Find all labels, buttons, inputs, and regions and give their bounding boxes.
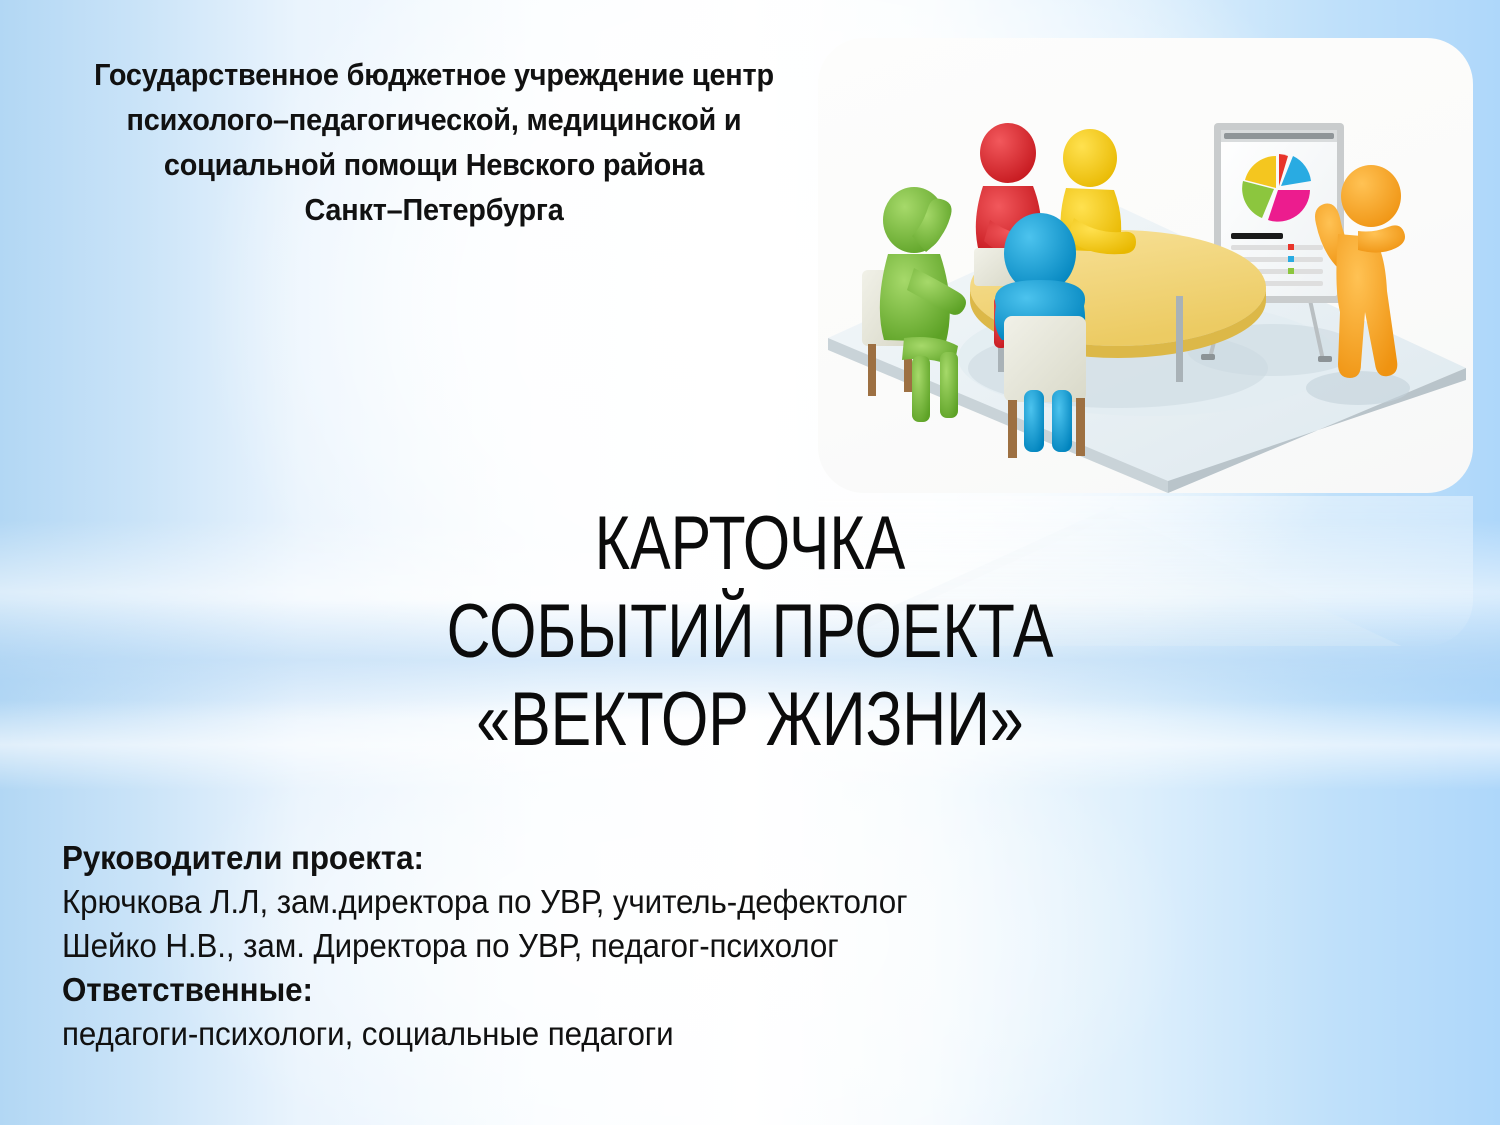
page-title: КАРТОЧКА СОБЫТИЙ ПРОЕКТА «ВЕКТОР ЖИЗНИ» bbox=[250, 500, 1250, 764]
presenter-shadow bbox=[1306, 371, 1410, 405]
credits-block: Руководители проекта: Крючкова Л.Л, зам.… bbox=[62, 836, 1242, 1056]
responsible-label: Ответственные: bbox=[62, 968, 1183, 1012]
meeting-illustration-svg bbox=[818, 38, 1473, 493]
organization-title-line-4: Санкт–Петербурга bbox=[81, 187, 788, 232]
page-title-line-1: КАРТОЧКА bbox=[350, 500, 1150, 588]
meeting-illustration bbox=[818, 38, 1473, 493]
leader-item: Шейко Н.В., зам. Директора по УВР, педаг… bbox=[62, 924, 1183, 968]
page-title-line-3: «ВЕКТОР ЖИЗНИ» bbox=[350, 676, 1150, 764]
page-title-line-2: СОБЫТИЙ ПРОЕКТА bbox=[350, 588, 1150, 676]
blue-chair-back bbox=[1004, 316, 1086, 402]
organization-title-line-3: социальной помощи Невского района bbox=[81, 142, 788, 187]
leader-item: Крючкова Л.Л, зам.директора по УВР, учит… bbox=[62, 880, 1183, 924]
responsible-item: педагоги-психологи, социальные педагоги bbox=[62, 1012, 1183, 1056]
presentation-slide: Государственное бюджетное учреждение цен… bbox=[0, 0, 1500, 1125]
organization-title: Государственное бюджетное учреждение цен… bbox=[81, 52, 788, 232]
organization-title-line-2: психолого–педагогической, медицинской и bbox=[81, 97, 788, 142]
organization-title-line-1: Государственное бюджетное учреждение цен… bbox=[81, 52, 788, 97]
leaders-label: Руководители проекта: bbox=[62, 836, 1183, 880]
green-figure bbox=[862, 187, 966, 422]
